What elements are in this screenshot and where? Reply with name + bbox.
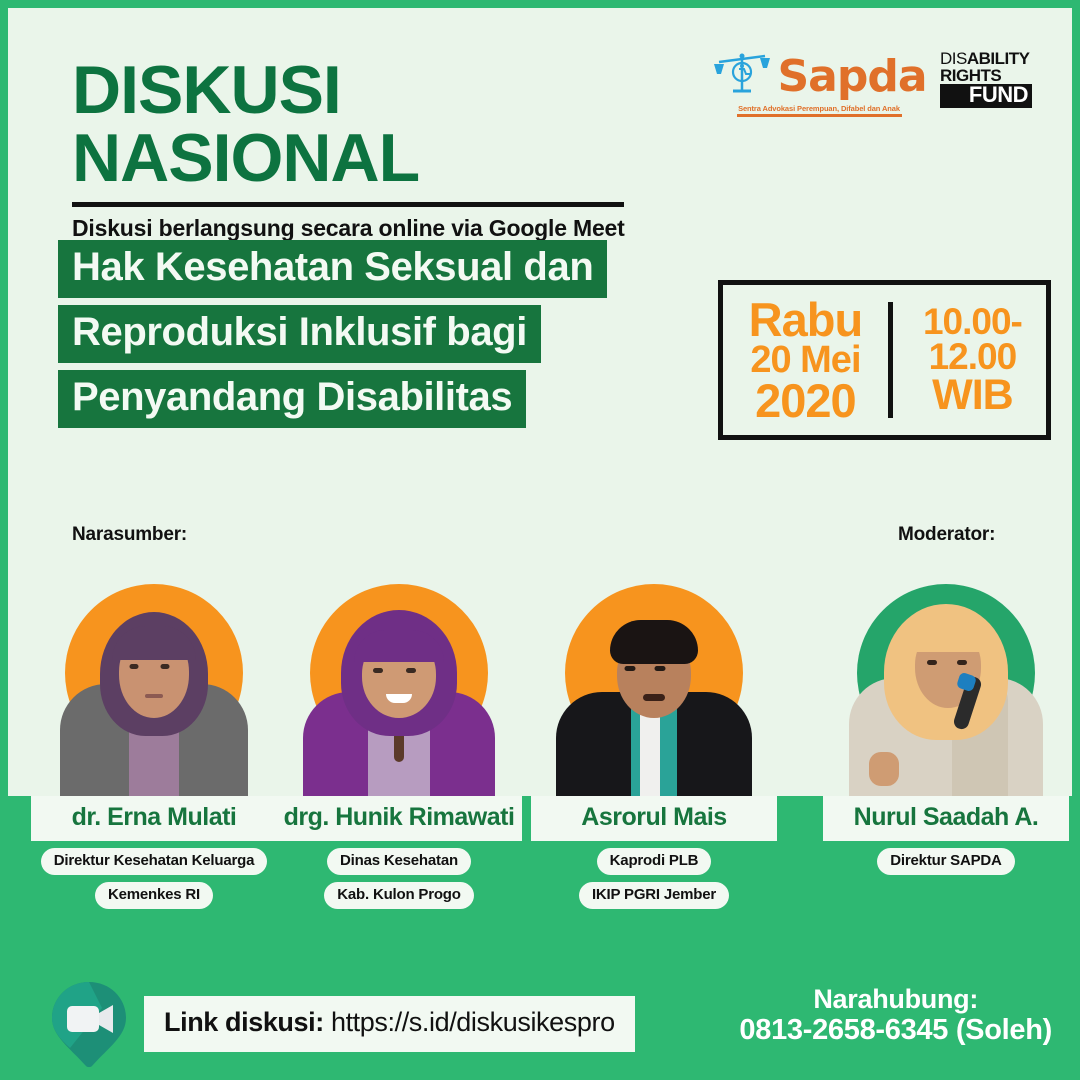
speaker-org: Kab. Kulon Progo — [324, 882, 473, 909]
poster-canvas: DISKUSI NASIONAL Diskusi berlangsung sec… — [0, 0, 1080, 1080]
speaker-org: IKIP PGRI Jember — [579, 882, 729, 909]
speaker-roles: Kaprodi PLB IKIP PGRI Jember — [531, 848, 777, 909]
page-subtitle: Diskusi berlangsung secara online via Go… — [72, 215, 692, 242]
moderator-photo — [823, 564, 1069, 796]
logo-group: Sapda Sentra Advokasi Perempuan, Difabel… — [724, 50, 1032, 117]
speaker-card: dr. Erna Mulati Direktur Kesehatan Kelua… — [31, 564, 277, 909]
schedule-day: Rabu — [723, 297, 888, 342]
drf-line3: FUND — [940, 84, 1032, 108]
speaker-role: Kaprodi PLB — [597, 848, 712, 875]
moderator-card: Nurul Saadah A. Direktur SAPDA — [823, 564, 1069, 875]
link-label: Link diskusi: — [164, 1007, 324, 1037]
speaker-photo — [531, 564, 777, 796]
page-title: DISKUSI NASIONAL — [72, 56, 692, 192]
link-url[interactable]: https://s.id/diskusikespro — [331, 1007, 615, 1037]
speaker-card: Asrorul Mais Kaprodi PLB IKIP PGRI Jembe… — [531, 564, 777, 909]
speaker-role: Direktur Kesehatan Keluarga — [41, 848, 268, 875]
speaker-name: drg. Hunik Rimawati — [276, 796, 522, 841]
schedule-date-text: 20 Mei — [723, 342, 888, 378]
schedule-time-end: 12.00 — [899, 339, 1046, 375]
google-meet-icon — [50, 980, 128, 1068]
header-block: DISKUSI NASIONAL Diskusi berlangsung sec… — [72, 56, 692, 242]
speakers-label: Narasumber: — [72, 524, 187, 546]
headline-line-2: Reproduksi Inklusif bagi — [58, 305, 541, 363]
disability-rights-fund-logo: DISABILITY RIGHTS FUND — [940, 50, 1032, 108]
title-divider — [72, 202, 624, 207]
speaker-photo — [31, 564, 277, 796]
schedule-timezone: WIB — [899, 375, 1046, 416]
schedule-date: Rabu 20 Mei 2020 — [723, 297, 888, 424]
discussion-link[interactable]: Link diskusi: https://s.id/diskusikespro — [144, 996, 635, 1052]
schedule-box: Rabu 20 Mei 2020 10.00- 12.00 WIB — [718, 280, 1051, 440]
speaker-org: Kemenkes RI — [95, 882, 213, 909]
contact-label: Narahubung: — [739, 984, 1052, 1014]
portrait-hunik-rimawati — [301, 590, 497, 796]
schedule-year: 2020 — [723, 378, 888, 423]
portrait-nurul-saadah — [848, 590, 1044, 796]
speaker-name: dr. Erna Mulati — [31, 796, 277, 841]
speaker-photo — [276, 564, 522, 796]
contact-info: Narahubung: 0813-2658-6345 (Soleh) — [739, 984, 1052, 1047]
scales-wheelchair-icon — [711, 50, 773, 103]
speaker-list: dr. Erna Mulati Direktur Kesehatan Kelua… — [8, 564, 1080, 944]
headline-banners: Hak Kesehatan Seksual dan Reproduksi Ink… — [58, 240, 607, 435]
speaker-card: drg. Hunik Rimawati Dinas Kesehatan Kab.… — [276, 564, 522, 909]
speaker-role: Dinas Kesehatan — [327, 848, 471, 875]
schedule-time-start: 10.00- — [899, 304, 1046, 340]
moderator-label: Moderator: — [898, 524, 995, 546]
portrait-erna-mulati — [56, 590, 252, 796]
sapda-tagline: Sentra Advokasi Perempuan, Difabel dan A… — [737, 104, 902, 117]
sapda-logo: Sapda Sentra Advokasi Perempuan, Difabel… — [724, 50, 914, 117]
speaker-roles: Direktur Kesehatan Keluarga Kemenkes RI — [31, 848, 277, 909]
moderator-role: Direktur SAPDA — [877, 848, 1014, 875]
speaker-roles: Dinas Kesehatan Kab. Kulon Progo — [276, 848, 522, 909]
moderator-name: Nurul Saadah A. — [823, 796, 1069, 841]
speaker-name: Asrorul Mais — [531, 796, 777, 841]
headline-line-3: Penyandang Disabilitas — [58, 370, 526, 428]
headline-line-1: Hak Kesehatan Seksual dan — [58, 240, 607, 298]
portrait-asrorul-mais — [556, 590, 752, 796]
schedule-time: 10.00- 12.00 WIB — [893, 304, 1046, 416]
moderator-roles: Direktur SAPDA — [823, 848, 1069, 875]
sapda-wordmark: Sapda — [777, 55, 926, 99]
contact-number: 0813-2658-6345 (Soleh) — [739, 1014, 1052, 1046]
